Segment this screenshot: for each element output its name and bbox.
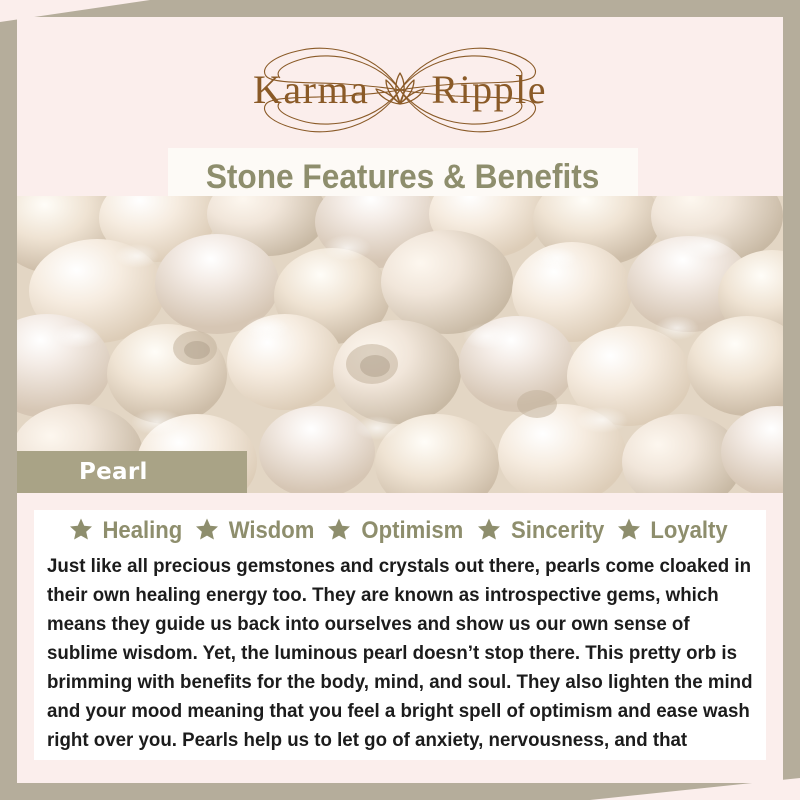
benefit-label: Healing (102, 517, 182, 545)
benefit-label: Optimism (361, 517, 463, 545)
benefit-label: Wisdom (228, 517, 314, 545)
benefit-label: Loyalty (650, 517, 727, 545)
benefit-item: Wisdom (195, 517, 318, 546)
lotus-icon (373, 67, 427, 113)
star-icon (327, 517, 351, 546)
stone-name-band: Pearl (17, 451, 247, 493)
star-icon (195, 517, 219, 546)
star-icon (477, 517, 501, 546)
benefit-item: Optimism (327, 517, 468, 546)
poster: Karma Ripple (0, 0, 800, 800)
brand-word-right: Ripple (431, 70, 547, 110)
benefits-list: Healing Wisdom Optimism (34, 513, 766, 549)
brand-word-left: Karma (253, 70, 369, 110)
stone-photo (17, 196, 783, 493)
benefit-label: Sincerity (511, 517, 604, 545)
star-icon (617, 517, 641, 546)
brand-logo: Karma Ripple (17, 35, 783, 145)
content-card: Healing Wisdom Optimism (34, 510, 766, 760)
page-title: Stone Features & Benefits (206, 158, 600, 197)
benefit-item: Healing (69, 517, 186, 546)
bottom-pink-strip (17, 760, 783, 783)
pearl-photo-graphic (17, 196, 783, 493)
stone-description: Just like all precious gemstones and cry… (47, 552, 754, 783)
stone-name-label: Pearl (79, 459, 148, 485)
benefit-item: Sincerity (477, 517, 608, 546)
page-inner: Karma Ripple (17, 17, 783, 783)
star-icon (69, 517, 93, 546)
benefit-item: Loyalty (617, 517, 731, 546)
